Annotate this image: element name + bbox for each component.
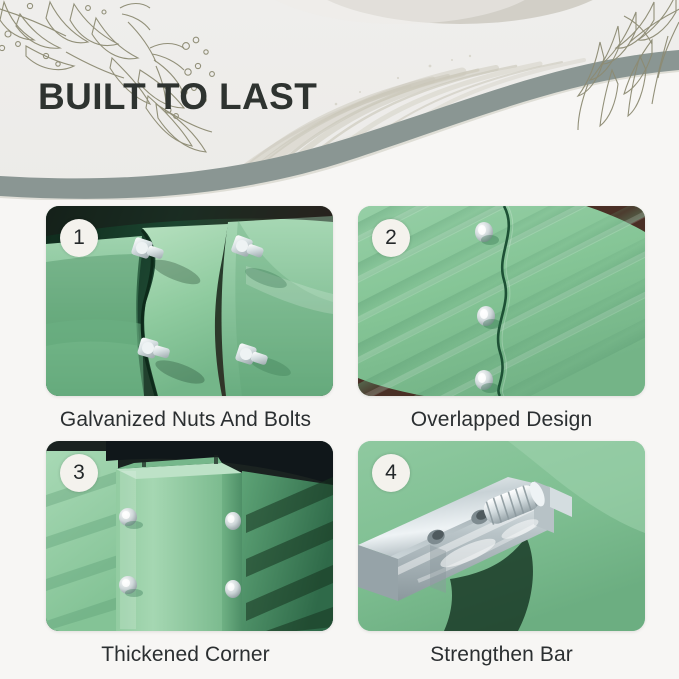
page-title: BUILT TO LAST — [38, 78, 317, 115]
feature-number-badge: 3 — [60, 454, 98, 492]
feature-caption: Strengthen Bar — [354, 643, 649, 667]
feature-image-1: 1 — [46, 206, 333, 396]
feature-image-4: 4 — [358, 441, 645, 631]
feature-number-badge: 2 — [372, 219, 410, 257]
feature-grid: 1 Galvanized Nuts And Bolts — [0, 200, 679, 679]
header-banner: BUILT TO LAST — [0, 0, 679, 200]
corner-post-edge — [222, 463, 242, 631]
feature-caption: Galvanized Nuts And Bolts — [38, 408, 333, 432]
feature-caption: Thickened Corner — [38, 643, 333, 667]
feature-image-3: 3 — [46, 441, 333, 631]
feature-image-2: 2 — [358, 206, 645, 396]
feature-card-4[interactable]: 4 Strengthen Bar — [354, 441, 649, 676]
feature-caption: Overlapped Design — [354, 408, 649, 432]
feature-card-1[interactable]: 1 Galvanized Nuts And Bolts — [38, 206, 333, 441]
feature-number-badge: 4 — [372, 454, 410, 492]
infographic-root: BUILT TO LAST — [0, 0, 679, 679]
feature-number-badge: 1 — [60, 219, 98, 257]
feature-card-2[interactable]: 2 Overlapped Design — [354, 206, 649, 441]
feature-card-3[interactable]: 3 Thickened Corner — [38, 441, 333, 676]
